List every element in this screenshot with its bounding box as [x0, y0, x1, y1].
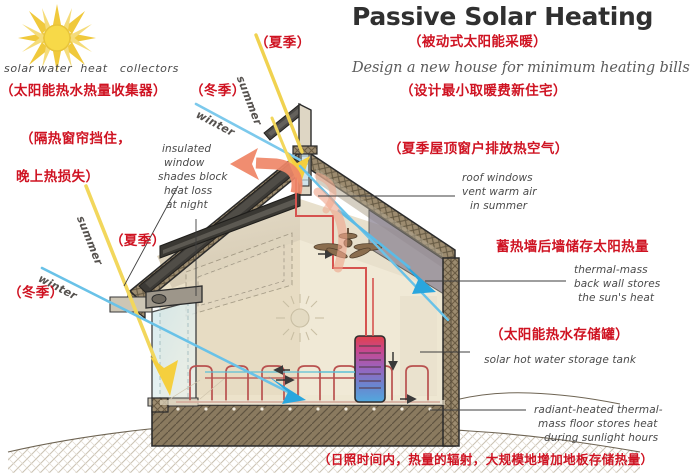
label-summer-cn-mid: （夏季） — [110, 232, 166, 251]
label-shades-cn-1: （隔热窗帘挡住， — [20, 130, 131, 149]
label-floor-en-3: during sunlight hours — [544, 432, 658, 445]
label-thermalmass-en-2: back wall stores — [574, 278, 660, 291]
label-tank-en: solar hot water storage tank — [484, 354, 636, 367]
label-collectors-cn: （太阳能热水热量收集器） — [0, 82, 167, 101]
diagram-canvas: Passive Solar Heating （被动式太阳能采暖） Design … — [0, 0, 690, 473]
label-floor-cn: （日照时间内，热量的辐射，大规模地增加地板存储热量） — [318, 450, 653, 469]
label-thermalmass-cn: 蓄热墙后墙储存太阳热量 — [496, 238, 649, 257]
page-subtitle-cn: （设计最小取暖费新住宅） — [400, 82, 567, 101]
label-shades-en-1: insulated — [162, 143, 211, 156]
label-floor-en-2: mass floor stores heat — [538, 418, 658, 431]
label-roofvent-en-2: vent warm air — [462, 186, 537, 199]
label-thermalmass-en-3: the sun's heat — [578, 292, 654, 305]
page-subtitle: Design a new house for minimum heating b… — [352, 60, 690, 76]
label-roofvent-en-1: roof windows — [462, 172, 533, 185]
label-winter-cn-low: （冬季） — [8, 284, 64, 303]
label-shades-cn-2: 晚上热损失） — [16, 168, 99, 187]
label-shades-en-5: at night — [166, 199, 208, 212]
label-shades-en-4: heat loss — [164, 185, 212, 198]
label-roofvent-cn: （夏季屋顶窗户排放热空气） — [388, 140, 569, 159]
label-shades-en-3: shades block — [158, 171, 228, 184]
label-floor-en-1: radiant-heated thermal- — [534, 404, 663, 417]
label-summer-cn-top: （夏季） — [255, 34, 311, 53]
label-roofvent-en-3: in summer — [470, 200, 527, 213]
page-title-cn: （被动式太阳能采暖） — [408, 33, 547, 52]
page-title: Passive Solar Heating — [352, 2, 653, 31]
label-collectors-en: solar water heat collectors — [4, 62, 179, 75]
label-shades-en-2: window — [164, 157, 204, 170]
wall-sun-ornament-icon — [276, 294, 324, 342]
label-thermalmass-en-1: thermal-mass — [574, 264, 648, 277]
label-tank-cn: （太阳能热水存储罐） — [490, 326, 629, 345]
